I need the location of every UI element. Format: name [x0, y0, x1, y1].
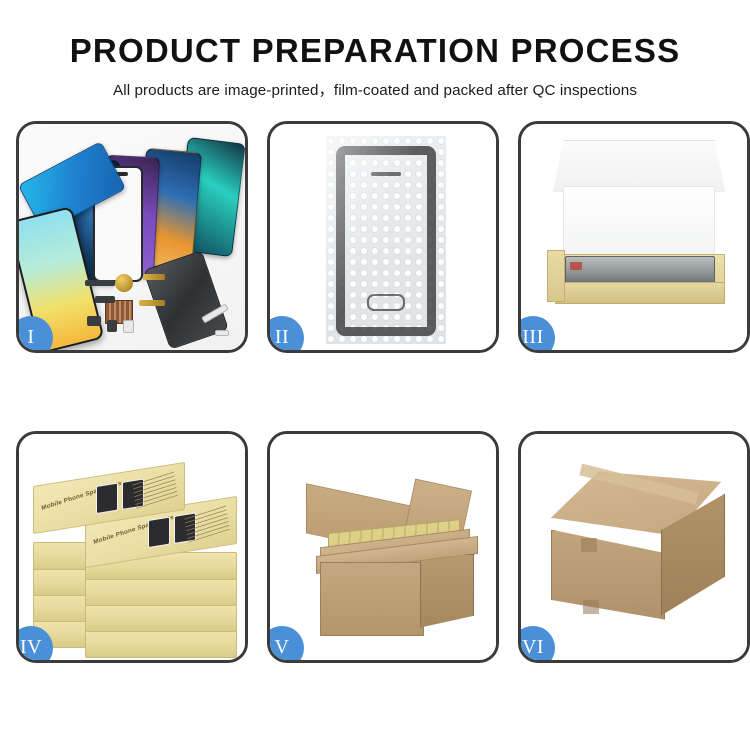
- step-6-image: VI: [521, 434, 747, 660]
- step-badge-2: II: [270, 316, 304, 350]
- flex-cable-part: [85, 280, 115, 286]
- screw-part: [215, 330, 229, 336]
- sealed-carton-front: [551, 530, 665, 620]
- step-3-image: III: [521, 124, 747, 350]
- speaker-part: [87, 316, 101, 326]
- step-2-image: II: [270, 124, 496, 350]
- mailer-box-front: [555, 282, 725, 304]
- sim-tray-part: [123, 320, 134, 333]
- ribbon-cable-part: [139, 300, 165, 306]
- retail-box-stack-item: [85, 630, 237, 658]
- page-subtitle: All products are image-printed，film-coat…: [0, 78, 750, 100]
- carton-side-face: [420, 554, 474, 628]
- process-steps-grid: I II III: [8, 121, 742, 663]
- process-step-card-4[interactable]: Mobile Phone Spare Parts Mobile Phone Sp…: [16, 431, 248, 663]
- step-badge-5: V: [270, 626, 304, 660]
- process-step-card-1[interactable]: I: [16, 121, 248, 353]
- process-step-card-5[interactable]: V: [267, 431, 499, 663]
- step-badge-6: VI: [521, 626, 555, 660]
- step-badge-3: III: [521, 316, 555, 350]
- bubble-wrap-sheet: [326, 136, 446, 344]
- button-part: [107, 320, 117, 332]
- carton-seam-tab: [583, 600, 599, 614]
- process-step-card-3[interactable]: III: [518, 121, 750, 353]
- wrapped-screen-in-box: [565, 256, 715, 284]
- process-step-card-6[interactable]: VI: [518, 431, 750, 663]
- box-screen-thumb: [96, 482, 118, 513]
- step-1-image: I: [19, 124, 245, 350]
- process-step-card-2[interactable]: II: [267, 121, 499, 353]
- carton-seam-tab: [581, 538, 597, 552]
- retail-box-stack-item: [85, 578, 237, 606]
- box-spec-lines: [132, 470, 178, 508]
- box-screen-thumb: [148, 516, 170, 547]
- box-spec-lines: [184, 504, 230, 542]
- mailer-box-lid: [553, 140, 725, 192]
- carton-front-face: [320, 562, 424, 636]
- plastic-sheen: [326, 136, 446, 344]
- step-5-image: V: [270, 434, 496, 660]
- mailer-box-side-flap: [547, 250, 565, 302]
- foam-padding: [563, 186, 715, 258]
- step-4-image: Mobile Phone Spare Parts Mobile Phone Sp…: [19, 434, 245, 660]
- vibration-motor-part: [115, 274, 133, 292]
- connector-part: [143, 274, 165, 280]
- page-title: PRODUCT PREPARATION PROCESS: [0, 34, 750, 69]
- retail-box-stack-item: [85, 604, 237, 632]
- page-header: PRODUCT PREPARATION PROCESS All products…: [0, 0, 750, 100]
- camera-module-part: [95, 296, 115, 303]
